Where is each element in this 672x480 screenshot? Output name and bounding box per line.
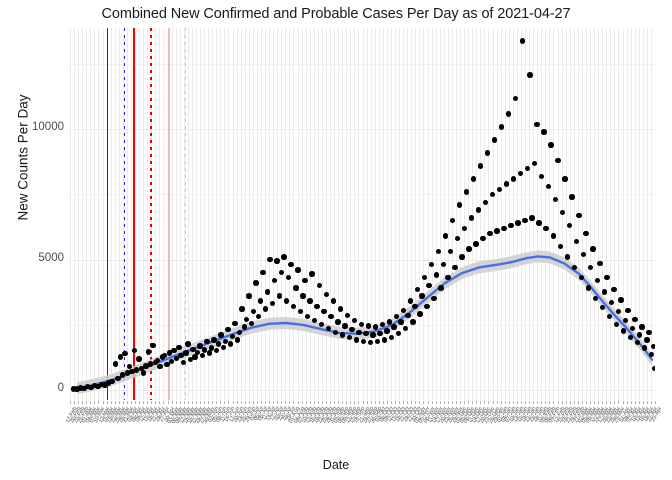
x-tick-mark: [375, 401, 376, 404]
data-point: [146, 349, 151, 354]
data-point: [192, 354, 197, 359]
data-point: [548, 142, 553, 147]
x-tick-mark: [277, 401, 278, 404]
x-tick-mark: [594, 401, 595, 404]
data-point: [576, 213, 581, 218]
data-point: [419, 293, 424, 298]
data-point: [466, 246, 471, 251]
x-tick-mark: [610, 401, 611, 404]
data-point: [176, 345, 181, 350]
x-tick-mark: [208, 401, 209, 404]
x-tick-mark: [371, 401, 372, 404]
x-tick-mark: [407, 401, 408, 404]
data-point: [356, 330, 361, 335]
data-point: [281, 254, 286, 259]
data-point: [295, 267, 300, 272]
x-tick-mark: [306, 401, 307, 404]
x-tick-mark: [245, 401, 246, 404]
x-tick-mark: [618, 401, 619, 404]
data-point: [555, 158, 560, 163]
data-point: [239, 306, 244, 311]
x-tick-mark: [172, 401, 173, 404]
x-tick-mark: [82, 401, 83, 404]
data-point: [511, 176, 516, 181]
data-point: [586, 285, 591, 290]
data-point: [232, 321, 237, 326]
x-tick-mark: [204, 401, 205, 404]
data-point: [342, 323, 347, 328]
data-point: [632, 317, 637, 322]
x-tick-mark: [387, 401, 388, 404]
y-tick-label: 10000: [20, 121, 64, 133]
data-point: [405, 313, 410, 318]
data-point: [590, 246, 595, 251]
x-tick-mark: [639, 401, 640, 404]
data-point: [462, 226, 467, 231]
data-point: [300, 293, 305, 298]
data-point: [263, 306, 268, 311]
data-point: [583, 231, 588, 236]
x-tick-mark: [269, 401, 270, 404]
x-tick-mark: [655, 401, 656, 404]
data-point: [384, 328, 389, 333]
data-point: [377, 331, 382, 336]
x-tick-mark: [509, 401, 510, 404]
x-tick-mark: [541, 401, 542, 404]
x-tick-mark: [452, 401, 453, 404]
data-point: [302, 278, 307, 283]
data-point: [562, 176, 567, 181]
x-tick-mark: [293, 401, 294, 404]
x-tick-mark: [107, 401, 108, 404]
x-tick-mark: [553, 401, 554, 404]
data-point: [122, 351, 127, 356]
x-axis-ticks: 17-Feb20-Feb23-Feb26-Feb01-Mar04-Mar07-M…: [70, 401, 655, 461]
x-tick-mark: [220, 401, 221, 404]
x-tick-mark: [399, 401, 400, 404]
x-tick-mark: [403, 401, 404, 404]
data-point: [113, 361, 118, 366]
data-point: [618, 297, 623, 302]
x-tick-mark: [90, 401, 91, 404]
x-tick-mark: [456, 401, 457, 404]
x-tick-mark: [647, 401, 648, 404]
x-tick-mark: [196, 401, 197, 404]
data-point: [338, 306, 343, 311]
data-point: [183, 350, 188, 355]
data-point: [534, 122, 539, 127]
x-tick-mark: [432, 401, 433, 404]
x-tick-mark: [155, 401, 156, 404]
data-point: [651, 344, 655, 349]
x-tick-mark: [261, 401, 262, 404]
x-tick-mark: [513, 401, 514, 404]
loess-smooth-overlay: [70, 28, 655, 400]
x-tick-mark: [501, 401, 502, 404]
data-point: [471, 176, 476, 181]
data-point: [207, 350, 212, 355]
x-tick-mark: [285, 401, 286, 404]
data-point: [328, 314, 333, 319]
x-tick-mark: [517, 401, 518, 404]
x-tick-mark: [354, 401, 355, 404]
x-tick-mark: [623, 401, 624, 404]
x-tick-mark: [614, 401, 615, 404]
data-point: [438, 285, 443, 290]
data-point: [541, 129, 546, 134]
data-point: [515, 220, 520, 225]
data-point: [522, 218, 527, 223]
x-tick-mark: [289, 401, 290, 404]
x-tick-mark: [94, 401, 95, 404]
x-tick-mark: [558, 401, 559, 404]
data-point: [185, 341, 190, 346]
data-point: [452, 265, 457, 270]
x-tick-mark: [651, 401, 652, 404]
x-tick-mark: [265, 401, 266, 404]
data-point: [473, 241, 478, 246]
x-tick-mark: [574, 401, 575, 404]
x-tick-mark: [436, 401, 437, 404]
x-tick-mark: [249, 401, 250, 404]
data-point: [136, 356, 141, 361]
x-tick-mark: [119, 401, 120, 404]
x-tick-mark: [302, 401, 303, 404]
data-point: [417, 311, 422, 316]
data-point: [480, 236, 485, 241]
x-tick-mark: [163, 401, 164, 404]
x-tick-mark: [338, 401, 339, 404]
x-tick-mark: [257, 401, 258, 404]
data-point: [602, 289, 607, 294]
data-point: [335, 319, 340, 324]
data-point: [536, 220, 541, 225]
x-tick-mark: [74, 401, 75, 404]
data-point: [235, 337, 240, 342]
data-point: [249, 321, 254, 326]
x-tick-mark: [147, 401, 148, 404]
x-tick-mark: [342, 401, 343, 404]
x-tick-mark: [476, 401, 477, 404]
data-point: [309, 271, 314, 276]
x-tick-mark: [440, 401, 441, 404]
x-tick-mark: [549, 401, 550, 404]
x-tick-mark: [70, 401, 71, 404]
x-tick-mark: [537, 401, 538, 404]
data-point: [277, 293, 282, 298]
x-tick-mark: [326, 401, 327, 404]
data-point: [284, 298, 289, 303]
x-tick-mark: [590, 401, 591, 404]
x-tick-mark: [643, 401, 644, 404]
data-point: [434, 272, 439, 277]
x-tick-mark: [602, 401, 603, 404]
x-tick-mark: [350, 401, 351, 404]
x-tick-mark: [310, 401, 311, 404]
data-point: [204, 339, 209, 344]
chart-title: Combined New Confirmed and Probable Case…: [0, 6, 672, 22]
data-point: [497, 187, 502, 192]
data-point: [543, 226, 548, 231]
data-point: [408, 298, 413, 303]
data-point: [401, 308, 406, 313]
x-tick-mark: [448, 401, 449, 404]
data-point: [487, 231, 492, 236]
data-point: [314, 304, 319, 309]
x-tick-mark: [367, 401, 368, 404]
x-tick-mark: [111, 401, 112, 404]
x-tick-mark: [419, 401, 420, 404]
x-tick-mark: [428, 401, 429, 404]
y-axis-ticks: 0500010000: [18, 0, 64, 480]
x-tick-mark: [586, 401, 587, 404]
x-tick-mark: [123, 401, 124, 404]
data-point: [483, 200, 488, 205]
x-tick-mark: [86, 401, 87, 404]
x-tick-mark: [411, 401, 412, 404]
x-tick-mark: [330, 401, 331, 404]
data-point: [267, 257, 272, 262]
x-tick-mark: [415, 401, 416, 404]
x-tick-mark: [464, 401, 465, 404]
data-point: [506, 111, 511, 116]
x-tick-mark: [363, 401, 364, 404]
x-tick-mark: [533, 401, 534, 404]
x-tick-mark: [497, 401, 498, 404]
data-point: [181, 360, 186, 365]
data-point: [293, 285, 298, 290]
x-tick-mark: [131, 401, 132, 404]
x-tick-mark: [115, 401, 116, 404]
x-tick-mark: [631, 401, 632, 404]
x-tick-mark: [606, 401, 607, 404]
x-tick-mark: [334, 401, 335, 404]
x-tick-mark: [103, 401, 104, 404]
data-point: [340, 332, 345, 337]
data-point: [260, 270, 265, 275]
data-point: [464, 189, 469, 194]
data-point: [469, 215, 474, 220]
data-point: [317, 283, 322, 288]
data-point: [228, 341, 233, 346]
data-point: [569, 194, 574, 199]
data-point: [274, 258, 279, 263]
x-tick-mark: [578, 401, 579, 404]
x-tick-mark: [168, 401, 169, 404]
data-point: [501, 226, 506, 231]
data-point: [529, 215, 534, 220]
data-point: [532, 161, 537, 166]
data-point: [141, 370, 146, 375]
data-point: [370, 332, 375, 337]
x-tick-mark: [212, 401, 213, 404]
x-tick-mark: [135, 401, 136, 404]
x-tick-mark: [176, 401, 177, 404]
x-tick-mark: [237, 401, 238, 404]
x-tick-mark: [598, 401, 599, 404]
data-point: [611, 287, 616, 292]
data-point: [363, 331, 368, 336]
x-tick-mark: [521, 401, 522, 404]
data-point: [457, 202, 462, 207]
x-tick-mark: [484, 401, 485, 404]
data-point: [621, 328, 626, 333]
x-tick-mark: [98, 401, 99, 404]
data-point: [307, 298, 312, 303]
data-point: [366, 323, 371, 328]
x-tick-mark: [529, 401, 530, 404]
smooth-line: [77, 256, 652, 388]
x-tick-mark: [188, 401, 189, 404]
x-tick-mark: [566, 401, 567, 404]
data-point: [253, 280, 258, 285]
x-tick-mark: [383, 401, 384, 404]
data-point: [431, 296, 436, 301]
x-tick-mark: [379, 401, 380, 404]
x-tick-mark: [184, 401, 185, 404]
data-point: [218, 332, 223, 337]
x-tick-mark: [635, 401, 636, 404]
x-tick-mark: [318, 401, 319, 404]
data-point: [321, 309, 326, 314]
plot-area: [70, 28, 655, 400]
x-tick-mark: [200, 401, 201, 404]
x-tick-mark: [314, 401, 315, 404]
data-point: [373, 324, 378, 329]
data-point: [492, 137, 497, 142]
data-point: [345, 313, 350, 318]
data-point: [459, 254, 464, 259]
data-point: [445, 275, 450, 280]
x-tick-mark: [444, 401, 445, 404]
x-tick-mark: [233, 401, 234, 404]
data-point: [485, 150, 490, 155]
data-point: [476, 207, 481, 212]
x-tick-mark: [228, 401, 229, 404]
data-point: [246, 293, 251, 298]
x-tick-mark: [358, 401, 359, 404]
x-tick-mark: [127, 401, 128, 404]
data-point: [565, 254, 570, 259]
data-point: [499, 124, 504, 129]
data-point: [504, 181, 509, 186]
data-point: [597, 261, 602, 266]
x-tick-mark: [253, 401, 254, 404]
data-point: [426, 283, 431, 288]
chart-container: Combined New Confirmed and Probable Case…: [0, 0, 672, 480]
x-tick-mark: [468, 401, 469, 404]
x-tick-mark: [346, 401, 347, 404]
x-tick-mark: [472, 401, 473, 404]
x-tick-mark: [224, 401, 225, 404]
data-point: [646, 330, 651, 335]
data-point: [398, 319, 403, 324]
data-point: [572, 265, 577, 270]
x-tick-mark: [298, 401, 299, 404]
data-point: [412, 304, 417, 309]
data-point: [639, 324, 644, 329]
x-tick-mark: [78, 401, 79, 404]
x-tick-mark: [159, 401, 160, 404]
x-tick-mark: [493, 401, 494, 404]
data-point: [625, 308, 630, 313]
x-tick-mark: [395, 401, 396, 404]
x-tick-mark: [241, 401, 242, 404]
x-tick-mark: [460, 401, 461, 404]
x-tick-mark: [151, 401, 152, 404]
x-tick-mark: [570, 401, 571, 404]
data-point: [424, 304, 429, 309]
x-tick-mark: [562, 401, 563, 404]
x-tick-mark: [505, 401, 506, 404]
x-tick-mark: [582, 401, 583, 404]
x-tick-mark: [391, 401, 392, 404]
data-point: [221, 345, 226, 350]
x-tick-mark: [488, 401, 489, 404]
data-point: [551, 233, 556, 238]
data-point: [391, 324, 396, 329]
data-point: [242, 324, 247, 329]
data-point: [443, 233, 448, 238]
data-point: [410, 319, 415, 324]
data-point: [331, 298, 336, 303]
x-tick-mark: [627, 401, 628, 404]
y-tick-label: 5000: [20, 252, 64, 264]
x-tick-mark: [180, 401, 181, 404]
data-point: [494, 228, 499, 233]
x-tick-mark: [216, 401, 217, 404]
data-point: [527, 72, 532, 77]
x-tick-mark: [322, 401, 323, 404]
x-tick-mark: [423, 401, 424, 404]
x-tick-mark: [281, 401, 282, 404]
x-tick-mark: [525, 401, 526, 404]
x-tick-mark: [192, 401, 193, 404]
data-point: [558, 244, 563, 249]
data-point: [478, 163, 483, 168]
data-point: [200, 353, 205, 358]
x-tick-mark: [545, 401, 546, 404]
x-tick-mark: [480, 401, 481, 404]
confidence-band: [77, 250, 652, 394]
data-point: [150, 343, 155, 348]
data-point: [642, 345, 647, 350]
x-tick-mark: [143, 401, 144, 404]
x-tick-mark: [139, 401, 140, 404]
y-tick-label: 0: [20, 382, 64, 394]
x-tick-mark: [273, 401, 274, 404]
data-point: [644, 337, 649, 342]
